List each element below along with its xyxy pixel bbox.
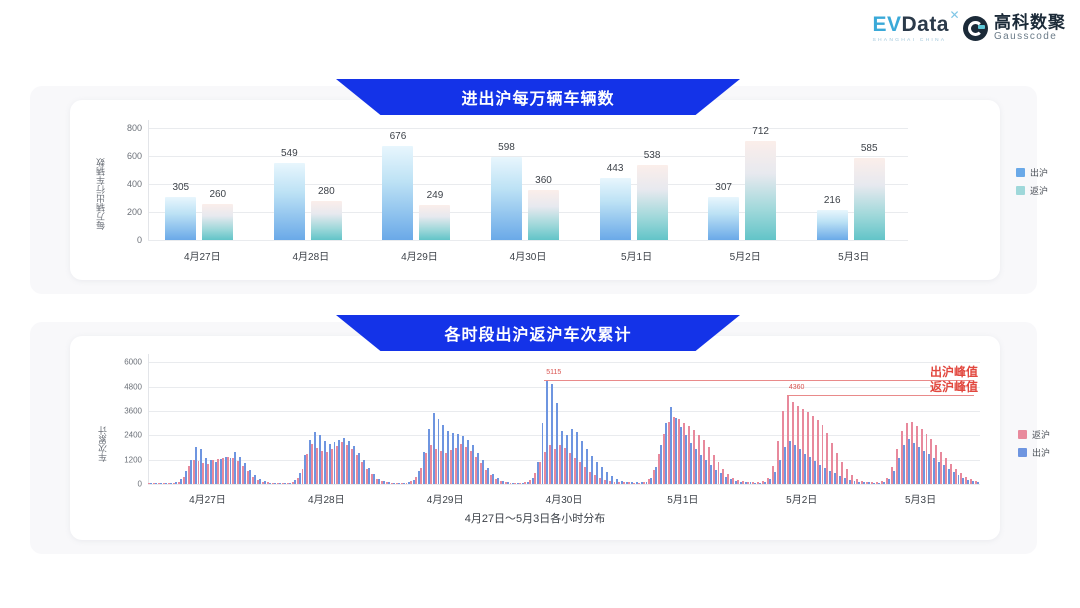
y-axis-label-daily: 每万辆出行车辆数	[94, 130, 107, 230]
hourly-bar-chuhu	[299, 473, 301, 484]
gausscode-name-en: Gausscode	[994, 32, 1066, 43]
bar-出沪: 216	[817, 210, 848, 240]
hourly-bar-chuhu	[408, 482, 410, 484]
bar-返沪: 360	[528, 190, 559, 240]
hourly-bar-chuhu	[423, 452, 425, 485]
legend-label: 返沪	[1032, 428, 1050, 441]
hourly-bar-chuhu	[814, 461, 816, 484]
hourly-bar-chuhu	[923, 451, 925, 484]
hourly-bar-chuhu	[943, 465, 945, 484]
x-tick-label: 4月27日	[184, 248, 221, 263]
hourly-bar-chuhu	[477, 453, 479, 484]
hourly-bar-chuhu	[759, 483, 761, 484]
annotation-line-chuhu	[544, 380, 974, 381]
hourly-bar-chuhu	[903, 445, 905, 484]
hourly-bar-chuhu	[442, 425, 444, 484]
hourly-bar-chuhu	[517, 483, 519, 484]
bar-group: 598360	[491, 120, 565, 240]
legend-item-出沪: 出沪	[1018, 446, 1050, 459]
hourly-bar-chuhu	[205, 458, 207, 484]
hourly-bar-chuhu	[447, 431, 449, 484]
hourly-bar-chuhu	[378, 479, 380, 484]
hourly-bar-chuhu	[948, 469, 950, 484]
hourly-bar-chuhu	[348, 441, 350, 484]
bar-value-label: 538	[644, 150, 661, 161]
hourly-bar-chuhu	[700, 455, 702, 484]
hourly-bar-chuhu	[794, 445, 796, 484]
hourly-bar-chuhu	[576, 432, 578, 484]
hourly-bar-chuhu	[655, 467, 657, 484]
hourly-bar-chuhu	[690, 443, 692, 484]
chart-card-hourly: 车次累计0120024003600480060004月27日4月28日4月29日…	[70, 336, 1000, 540]
legend-item-出沪: 出沪	[1016, 166, 1048, 179]
hourly-bar-chuhu	[225, 457, 227, 484]
evdata-logo-subtitle: SHANGHAI CHINA	[872, 38, 946, 43]
bar-出沪: 307	[708, 197, 739, 240]
hourly-bar-chuhu	[259, 479, 261, 484]
bar-返沪: 280	[311, 201, 342, 240]
gridline	[148, 362, 980, 363]
hourly-bar-chuhu	[438, 419, 440, 484]
hourly-bar-chuhu	[373, 474, 375, 484]
y-axis-label-hourly: 车次累计	[96, 382, 109, 462]
hourly-bar-chuhu	[893, 471, 895, 484]
hourly-bar-chuhu	[403, 483, 405, 484]
hourly-bar-chuhu	[165, 483, 167, 484]
bar-value-label: 280	[318, 186, 335, 197]
legend-swatch-出沪	[1016, 168, 1025, 177]
hourly-bar-chuhu	[878, 483, 880, 484]
hourly-bar-chuhu	[338, 440, 340, 484]
hourly-bar-chuhu	[175, 482, 177, 484]
hourly-bar-chuhu	[591, 456, 593, 484]
chart-legend-daily: 出沪返沪	[1016, 166, 1048, 197]
hourly-bar-chuhu	[249, 470, 251, 484]
evdata-logo-prefix: EV	[872, 13, 901, 36]
hourly-bar-chuhu	[155, 483, 157, 484]
hourly-bar-chuhu	[908, 439, 910, 484]
hourly-bar-chuhu	[507, 482, 509, 484]
bar-value-label: 676	[390, 131, 407, 142]
hourly-bar-chuhu	[393, 483, 395, 484]
evdata-logo: EVData✕ SHANGHAI CHINA	[872, 14, 949, 43]
y-tick-label: 6000	[110, 358, 142, 367]
hourly-bar-chuhu	[274, 483, 276, 484]
hourly-bar-chuhu	[958, 475, 960, 484]
hourly-bar-chuhu	[170, 483, 172, 484]
hourly-bar-chuhu	[898, 458, 900, 484]
hourly-bar-chuhu	[284, 483, 286, 484]
x-tick-label: 5月1日	[621, 248, 652, 263]
hourly-bar-chuhu	[324, 441, 326, 484]
hourly-bar-chuhu	[735, 481, 737, 484]
hourly-bar-chuhu	[660, 445, 662, 484]
hourly-bar-chuhu	[561, 431, 563, 484]
gausscode-name-cn: 高科数聚	[994, 14, 1066, 32]
bar-value-label: 216	[824, 195, 841, 206]
evdata-logo-wordmark: EVData✕	[872, 14, 949, 35]
hourly-bar-chuhu	[413, 480, 415, 484]
bar-group: 216585	[817, 120, 891, 240]
chart-card-daily-outer: 每万辆出行车辆数02004006008003052604月27日5492804月…	[30, 86, 1037, 294]
hourly-bar-chuhu	[358, 453, 360, 484]
bar-value-label: 307	[715, 182, 732, 193]
chart-card-daily: 每万辆出行车辆数02004006008003052604月27日5492804月…	[70, 100, 1000, 280]
hourly-bar-chuhu	[953, 472, 955, 484]
hourly-bar-chuhu	[522, 483, 524, 484]
hourly-bar-chuhu	[487, 468, 489, 484]
chart-plot-hourly: 车次累计0120024003600480060004月27日4月28日4月29日…	[70, 336, 1000, 540]
hourly-bar-chuhu	[804, 454, 806, 484]
hourly-bar-chuhu	[556, 403, 558, 484]
gridline	[148, 240, 908, 241]
y-tick-label: 400	[114, 179, 142, 189]
bar-出沪: 305	[165, 197, 196, 240]
hourly-bar-chuhu	[720, 473, 722, 484]
hourly-bar-chuhu	[433, 413, 435, 484]
hourly-bar-chuhu	[314, 432, 316, 484]
hourly-bar-chuhu	[913, 443, 915, 484]
hourly-bar-chuhu	[972, 481, 974, 484]
hourly-bar-chuhu	[764, 482, 766, 484]
hourly-bar-chuhu	[492, 474, 494, 484]
bar-group: 549280	[274, 120, 348, 240]
hourly-bar-chuhu	[388, 482, 390, 484]
y-tick-label: 0	[114, 235, 142, 245]
hourly-bar-chuhu	[715, 470, 717, 484]
legend-swatch-出沪	[1018, 448, 1027, 457]
hourly-bar-chuhu	[710, 465, 712, 484]
hourly-bar-chuhu	[185, 471, 187, 484]
hourly-bar-chuhu	[611, 476, 613, 484]
hourly-bar-chuhu	[319, 435, 321, 484]
logo-group: EVData✕ SHANGHAI CHINA 高科数聚 Gausscode	[872, 14, 1066, 43]
hourly-bar-chuhu	[368, 468, 370, 484]
hourly-bar-chuhu	[304, 455, 306, 484]
hourly-bar-chuhu	[497, 478, 499, 484]
hourly-bar-chuhu	[254, 475, 256, 484]
bar-value-label: 360	[535, 175, 552, 186]
hourly-bar-chuhu	[244, 463, 246, 484]
hourly-bar-chuhu	[616, 479, 618, 484]
hourly-bar-chuhu	[789, 441, 791, 484]
hourly-bar-chuhu	[334, 442, 336, 484]
x-tick-label: 4月30日	[510, 248, 547, 263]
hourly-bar-chuhu	[363, 460, 365, 484]
x-axis-caption-hourly: 4月27日～5月3日各小时分布	[70, 510, 1000, 526]
hourly-bar-chuhu	[873, 483, 875, 484]
gridline	[148, 435, 980, 436]
chart-legend-hourly: 返沪出沪	[1018, 428, 1050, 459]
bar-返沪: 538	[637, 165, 668, 240]
evdata-logo-suffix: Data	[901, 13, 949, 36]
hourly-bar-chuhu	[863, 482, 865, 484]
hourly-bar-chuhu	[809, 457, 811, 484]
hourly-bar-chuhu	[353, 446, 355, 484]
hourly-bar-chuhu	[596, 462, 598, 484]
chart-banner-daily: 进出沪每万辆车辆数	[336, 79, 740, 115]
x-tick-label: 5月3日	[905, 491, 936, 506]
legend-item-返沪: 返沪	[1018, 428, 1050, 441]
x-tick-label: 4月28日	[293, 248, 330, 263]
hourly-bar-chuhu	[398, 483, 400, 484]
bar-value-label: 598	[498, 142, 515, 153]
page-header: EVData✕ SHANGHAI CHINA 高科数聚 Gausscode	[0, 0, 1080, 62]
hourly-bar-chuhu	[779, 460, 781, 484]
hourly-bar-chuhu	[854, 481, 856, 484]
y-tick-label: 1200	[110, 455, 142, 464]
legend-swatch-返沪	[1018, 430, 1027, 439]
legend-label: 返沪	[1030, 184, 1048, 197]
hourly-bar-chuhu	[750, 482, 752, 484]
y-tick-label: 3600	[110, 406, 142, 415]
hourly-bar-chuhu	[309, 440, 311, 484]
hourly-bar-chuhu	[636, 482, 638, 484]
bar-返沪: 260	[202, 204, 233, 240]
hourly-bar-chuhu	[581, 441, 583, 484]
gridline	[148, 411, 980, 412]
hourly-bar-chuhu	[180, 479, 182, 484]
bar-value-label: 549	[281, 148, 298, 159]
hourly-bar-chuhu	[824, 468, 826, 484]
hourly-bar-chuhu	[670, 407, 672, 484]
y-tick-label: 800	[114, 123, 142, 133]
bar-group: 307712	[708, 120, 782, 240]
hourly-bar-chuhu	[646, 482, 648, 484]
bar-value-label: 249	[427, 190, 444, 201]
y-tick-label: 2400	[110, 431, 142, 440]
bar-value-label: 260	[209, 189, 226, 200]
x-tick-label: 4月27日	[189, 491, 226, 506]
bar-返沪: 585	[854, 158, 885, 240]
hourly-bar-chuhu	[606, 472, 608, 484]
bar-出沪: 443	[600, 178, 631, 240]
hourly-bar-chuhu	[467, 440, 469, 484]
y-tick-label: 4800	[110, 382, 142, 391]
hourly-bar-chuhu	[675, 418, 677, 484]
hourly-bar-chuhu	[849, 480, 851, 484]
hourly-bar-chuhu	[269, 483, 271, 484]
bar-返沪: 249	[419, 205, 450, 240]
hourly-bar-chuhu	[383, 481, 385, 484]
bar-group: 676249	[382, 120, 456, 240]
hourly-bar-chuhu	[343, 438, 345, 484]
x-tick-label: 4月29日	[401, 248, 438, 263]
bar-出沪: 549	[274, 163, 305, 240]
hourly-bar-chuhu	[546, 380, 548, 484]
hourly-bar-chuhu	[725, 477, 727, 484]
hourly-bar-chuhu	[512, 483, 514, 484]
hourly-bar-chuhu	[641, 482, 643, 484]
hourly-bar-chuhu	[502, 481, 504, 484]
chart-plot-daily: 每万辆出行车辆数02004006008003052604月27日5492804月…	[70, 100, 1000, 280]
hourly-bar-chuhu	[289, 483, 291, 484]
hourly-bar-chuhu	[740, 482, 742, 484]
hourly-bar-chuhu	[195, 447, 197, 484]
hourly-bar-chuhu	[571, 429, 573, 484]
y-tick-label: 0	[110, 480, 142, 489]
hourly-bar-chuhu	[190, 460, 192, 484]
hourly-bar-chuhu	[210, 460, 212, 484]
hourly-bar-chuhu	[239, 457, 241, 484]
hourly-bar-chuhu	[230, 458, 232, 484]
bar-value-label: 712	[752, 126, 769, 137]
hourly-bar-chuhu	[586, 449, 588, 484]
annotation-line-fanhu	[787, 395, 974, 396]
y-axis-line	[148, 354, 149, 484]
gridline	[148, 484, 980, 485]
hourly-bar-chuhu	[264, 481, 266, 484]
x-tick-label: 5月3日	[838, 248, 869, 263]
hourly-bar-chuhu	[745, 482, 747, 484]
annotation-value-chuhu: 5115	[546, 369, 561, 376]
hourly-bar-chuhu	[705, 460, 707, 484]
hourly-bar-chuhu	[472, 445, 474, 484]
legend-item-返沪: 返沪	[1016, 184, 1048, 197]
hourly-bar-chuhu	[819, 465, 821, 485]
x-tick-label: 4月29日	[427, 491, 464, 506]
hourly-bar-chuhu	[754, 483, 756, 484]
hourly-bar-chuhu	[428, 429, 430, 484]
bar-value-label: 443	[607, 163, 624, 174]
y-tick-label: 600	[114, 151, 142, 161]
hourly-bar-chuhu	[695, 449, 697, 484]
gausscode-logo: 高科数聚 Gausscode	[963, 14, 1066, 42]
hourly-bar-chuhu	[626, 482, 628, 484]
legend-label: 出沪	[1032, 446, 1050, 459]
bar-出沪: 598	[491, 157, 522, 240]
bar-group: 443538	[600, 120, 674, 240]
hourly-bar-chuhu	[418, 471, 420, 484]
hourly-bar-chuhu	[858, 482, 860, 484]
bar-出沪: 676	[382, 146, 413, 240]
hourly-bar-chuhu	[967, 480, 969, 484]
hourly-bar-chuhu	[532, 478, 534, 485]
evdata-cross-icon: ✕	[949, 9, 960, 21]
hourly-bar-chuhu	[839, 476, 841, 484]
hourly-bar-chuhu	[551, 384, 553, 484]
legend-label: 出沪	[1030, 166, 1048, 179]
annotation-value-fanhu: 4360	[789, 384, 805, 391]
hourly-bar-chuhu	[160, 483, 162, 484]
hourly-bar-chuhu	[650, 478, 652, 484]
chart-card-hourly-outer: 车次累计0120024003600480060004月27日4月28日4月29日…	[30, 322, 1037, 554]
x-tick-label: 4月28日	[308, 491, 345, 506]
hourly-bar-chuhu	[933, 458, 935, 484]
hourly-bar-chuhu	[834, 473, 836, 484]
gausscode-g-icon	[963, 16, 988, 41]
hourly-bar-chuhu	[457, 434, 459, 484]
hourly-bar-chuhu	[962, 478, 964, 485]
hourly-bar-chuhu	[542, 423, 544, 484]
hourly-bar-chuhu	[537, 462, 539, 484]
x-tick-label: 5月2日	[730, 248, 761, 263]
bar-value-label: 305	[172, 182, 189, 193]
hourly-bar-chuhu	[294, 480, 296, 484]
hourly-bar-chuhu	[665, 423, 667, 484]
hourly-bar-chuhu	[462, 436, 464, 484]
hourly-bar-chuhu	[938, 462, 940, 484]
hourly-bar-chuhu	[234, 452, 236, 485]
y-axis-line	[148, 120, 149, 240]
hourly-bar-chuhu	[200, 449, 202, 484]
x-tick-label: 4月30日	[546, 491, 583, 506]
hourly-bar-chuhu	[888, 479, 890, 484]
bar-value-label: 585	[861, 143, 878, 154]
x-tick-label: 5月1日	[667, 491, 698, 506]
hourly-bar-chuhu	[799, 449, 801, 484]
hourly-bar-chuhu	[977, 482, 979, 484]
hourly-bar-chuhu	[928, 454, 930, 484]
x-tick-label: 5月2日	[786, 491, 817, 506]
gausscode-logo-text: 高科数聚 Gausscode	[994, 14, 1066, 42]
hourly-bar-chuhu	[685, 435, 687, 484]
bar-group: 305260	[165, 120, 239, 240]
y-tick-label: 200	[114, 207, 142, 217]
hourly-bar-chuhu	[621, 481, 623, 484]
hourly-bar-chuhu	[215, 462, 217, 484]
hourly-bar-chuhu	[730, 479, 732, 484]
hourly-bar-chuhu	[452, 433, 454, 484]
hourly-bar-chuhu	[279, 483, 281, 484]
gridline	[148, 387, 980, 388]
bar-返沪: 712	[745, 141, 776, 240]
hourly-bar-chuhu	[844, 478, 846, 484]
hourly-bar-chuhu	[680, 427, 682, 484]
hourly-bar-chuhu	[918, 447, 920, 484]
hourly-bar-chuhu	[220, 459, 222, 484]
hourly-bar-chuhu	[482, 460, 484, 484]
hourly-bar-chuhu	[601, 467, 603, 484]
hourly-bar-chuhu	[769, 479, 771, 484]
hourly-bar-chuhu	[329, 444, 331, 484]
annotation-label-fanhu: 返沪峰值	[930, 378, 978, 395]
hourly-bar-chuhu	[868, 482, 870, 484]
legend-swatch-返沪	[1016, 186, 1025, 195]
hourly-bar-chuhu	[784, 447, 786, 484]
chart-banner-hourly: 各时段出沪返沪车次累计	[336, 315, 740, 351]
hourly-bar-chuhu	[631, 482, 633, 484]
hourly-bar-chuhu	[566, 435, 568, 484]
hourly-bar-chuhu	[150, 483, 152, 484]
hourly-bar-chuhu	[527, 482, 529, 484]
hourly-bar-chuhu	[829, 471, 831, 484]
hourly-bar-chuhu	[774, 472, 776, 484]
hourly-bar-chuhu	[883, 482, 885, 484]
